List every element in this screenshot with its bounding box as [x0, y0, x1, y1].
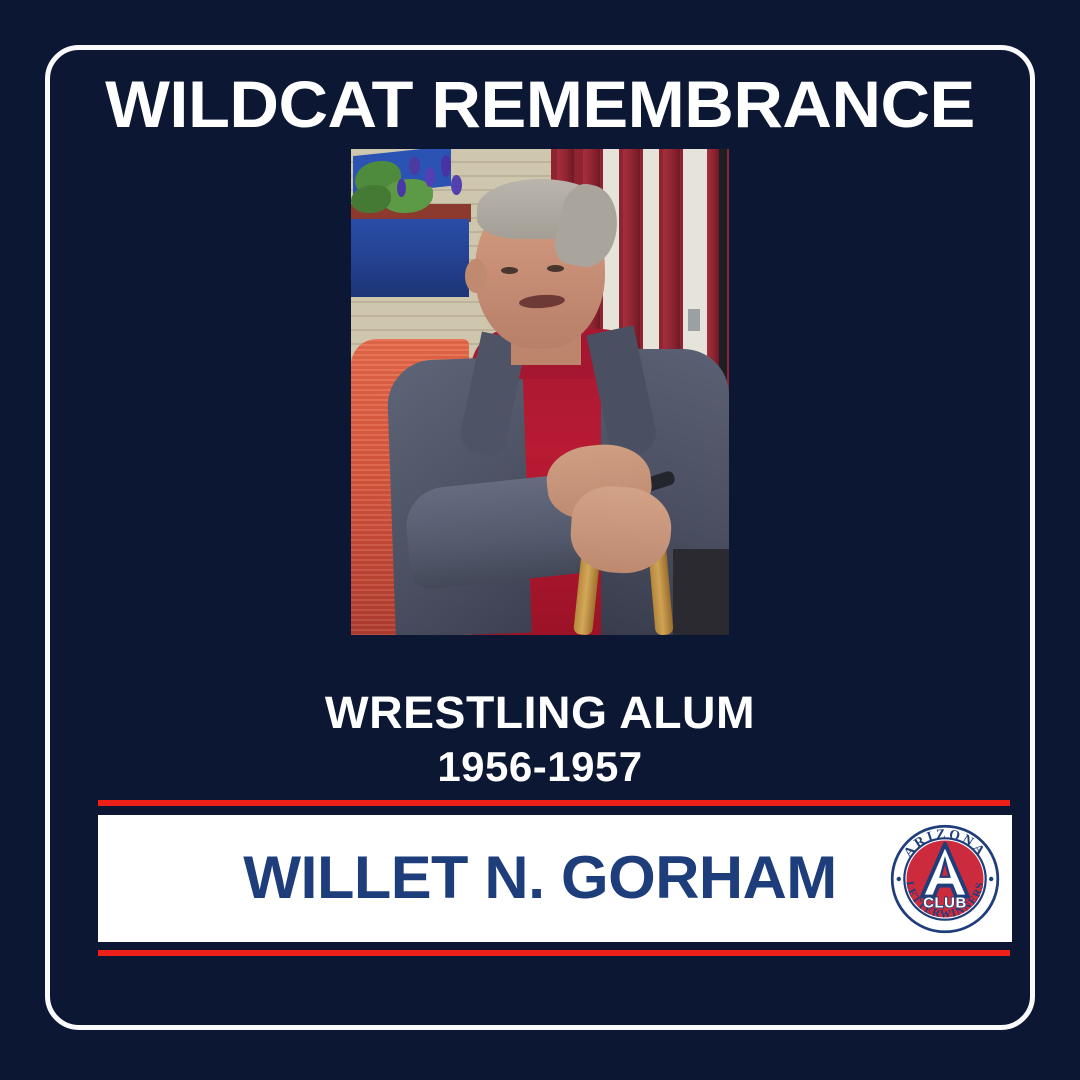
photo-flower — [425, 167, 435, 187]
seal-club-text: CLUB — [923, 896, 966, 912]
photo-gate-hinge — [688, 309, 700, 331]
photo-eye-right — [547, 265, 564, 272]
name-banner: WILLET N. GORHAM ARIZONA LETTERWINNERS — [98, 815, 1012, 942]
photo-flower — [451, 175, 462, 195]
portrait-photo: Elderly man seated on a porch, hands res… — [351, 149, 729, 635]
years-line: 1956-1957 — [0, 744, 1080, 790]
arizona-letterwinners-club-seal: ARIZONA LETTERWINNERS CLUB — [890, 824, 1000, 934]
photo-flower — [409, 157, 420, 175]
photo-flower — [397, 179, 406, 197]
photo-flower — [441, 155, 451, 177]
photo-eye-left — [501, 267, 518, 274]
banner-rule-top — [98, 800, 1010, 806]
sport-line: WRESTLING ALUM — [0, 688, 1080, 738]
photo-shadow — [673, 549, 729, 635]
photo-ear — [465, 259, 487, 293]
page-title: WILDCAT REMEMBRANCE — [0, 72, 1080, 136]
remembrance-card: WILDCAT REMEMBRANCE — [0, 0, 1080, 1080]
seal-dot — [989, 877, 993, 881]
seal-dot — [897, 877, 901, 881]
honoree-name: WILLET N. GORHAM — [142, 841, 938, 915]
banner-rule-bottom — [98, 950, 1010, 956]
photo-planter-box — [351, 219, 469, 297]
